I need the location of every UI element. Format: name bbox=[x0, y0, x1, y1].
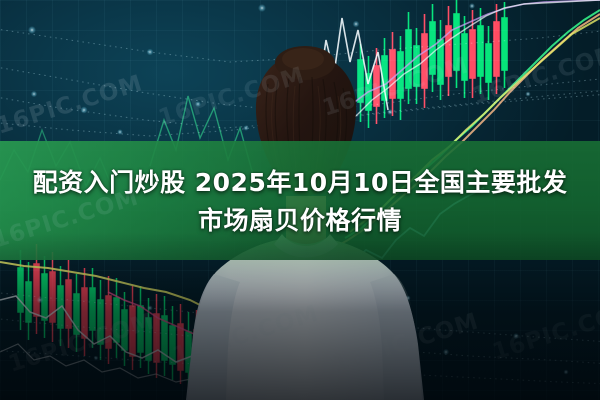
bottom-vignette bbox=[0, 0, 600, 400]
banner-image: 配资入门炒股 2025年10月10日全国主要批发 市场扇贝价格行情 16PIC.… bbox=[0, 0, 600, 400]
